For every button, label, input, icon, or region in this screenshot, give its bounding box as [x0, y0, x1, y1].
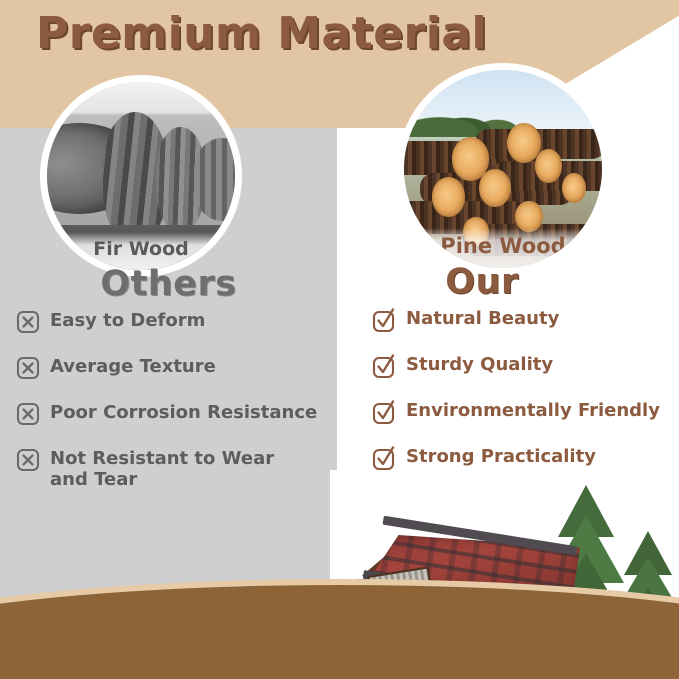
our-feature-list: Natural Beauty Sturdy Quality Environmen…	[372, 308, 677, 492]
x-mark-icon	[16, 402, 40, 426]
list-item: Strong Practicality	[372, 446, 677, 470]
list-item-label: Environmentally Friendly	[406, 400, 660, 422]
list-item: Average Texture	[16, 356, 336, 380]
x-mark-icon	[16, 356, 40, 380]
x-mark-icon	[16, 448, 40, 472]
list-item-label: Poor Corrosion Resistance	[50, 402, 317, 424]
list-item: Not Resistant to Wear and Tear	[16, 448, 336, 490]
others-feature-list: Easy to Deform Average Texture Poor Corr…	[16, 310, 336, 512]
fir-wood-photo: Fir Wood	[47, 82, 235, 270]
list-item: Poor Corrosion Resistance	[16, 402, 336, 426]
list-item: Sturdy Quality	[372, 354, 677, 378]
check-mark-icon	[372, 308, 396, 332]
list-item: Environmentally Friendly	[372, 400, 677, 424]
infographic-canvas: Premium Material Fir Wood Pine Wood	[0, 0, 679, 679]
check-mark-icon	[372, 354, 396, 378]
list-item-label: Natural Beauty	[406, 308, 559, 330]
list-item: Natural Beauty	[372, 308, 677, 332]
our-heading: Our	[337, 262, 627, 302]
check-mark-icon	[372, 446, 396, 470]
list-item-label: Easy to Deform	[50, 310, 205, 332]
list-item-label: Strong Practicality	[406, 446, 596, 468]
x-mark-icon	[16, 310, 40, 334]
list-item-label: Sturdy Quality	[406, 354, 553, 376]
others-heading: Others	[0, 264, 337, 304]
check-mark-icon	[372, 400, 396, 424]
list-item: Easy to Deform	[16, 310, 336, 334]
list-item-label: Not Resistant to Wear and Tear	[50, 448, 308, 490]
list-item-label: Average Texture	[50, 356, 216, 378]
pine-wood-photo: Pine Wood	[404, 70, 602, 268]
ground-band-fill	[0, 585, 679, 679]
ground-band	[0, 579, 679, 679]
page-title: Premium Material	[36, 8, 487, 59]
